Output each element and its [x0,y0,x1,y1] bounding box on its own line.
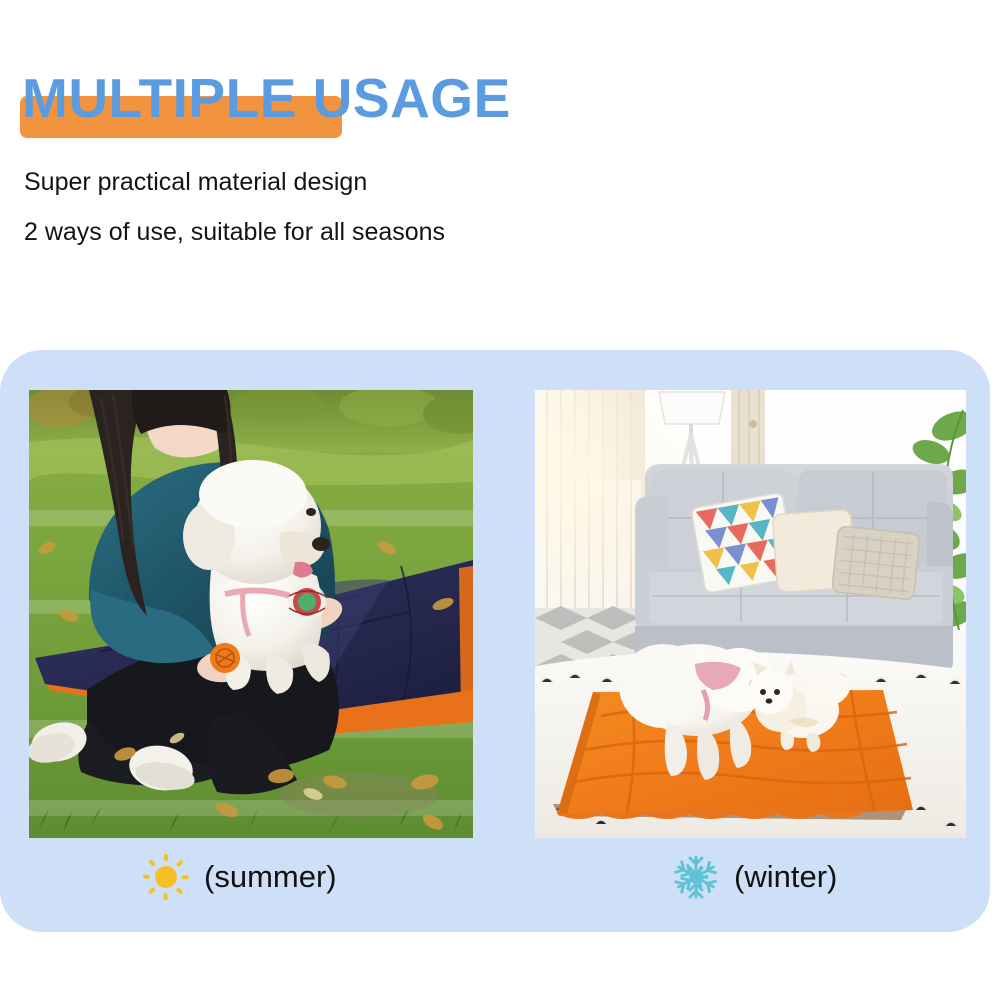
snowflake-icon [672,853,720,901]
page-title: MULTIPLE USAGE [22,58,511,138]
summer-caption: (summer) [142,848,337,906]
summer-photo [29,390,473,838]
winter-photo [535,390,966,838]
infographic-root: MULTIPLE USAGE Super practical material … [0,0,1000,1000]
subtitle-line-1: Super practical material design [24,168,367,197]
subtitle-line-2: 2 ways of use, suitable for all seasons [24,218,445,247]
summer-caption-label: (summer) [204,859,337,895]
summer-photo-illustration [29,390,473,838]
winter-caption-label: (winter) [734,859,837,895]
page-title-text: MULTIPLE USAGE [22,58,511,138]
sun-icon [142,853,190,901]
winter-photo-illustration [535,390,966,838]
winter-caption: (winter) [672,848,837,906]
